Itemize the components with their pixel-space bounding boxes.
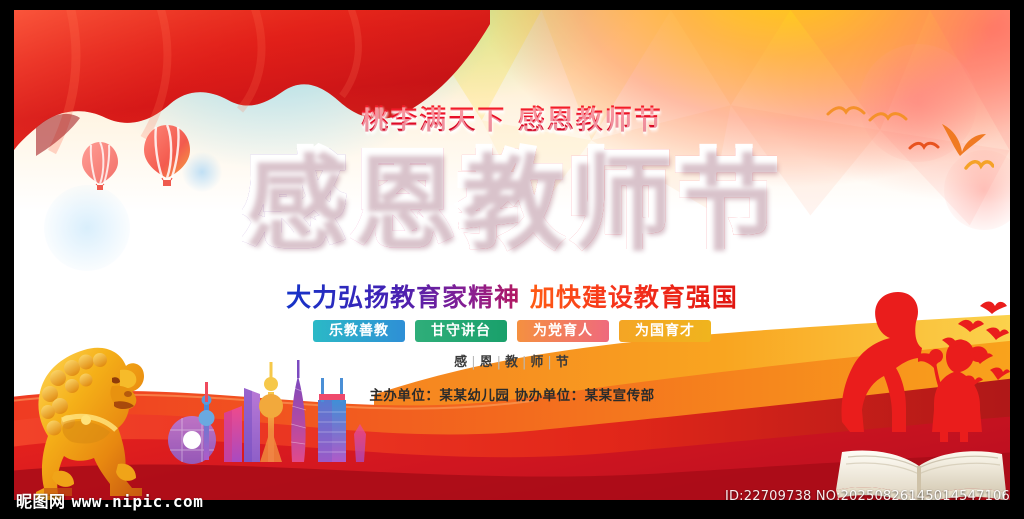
slogan-char: 恩 xyxy=(480,355,494,370)
slogan-char: 感 xyxy=(454,355,468,370)
slogan-tag-row: 乐教善教 甘守讲台 为党育人 为国育才 xyxy=(14,320,1010,342)
slogan-separator: | xyxy=(494,355,505,370)
poster-artwork: 桃李满天下 感恩教师节 感恩教师节 大力弘扬教育家精神 加快建设教育强国 乐教善… xyxy=(14,10,1010,500)
poster-canvas: 桃李满天下 感恩教师节 感恩教师节 大力弘扬教育家精神 加快建设教育强国 乐教善… xyxy=(0,0,1024,519)
page-title: 感恩教师节 xyxy=(14,148,1010,252)
slogan-char: 节 xyxy=(556,355,570,370)
slogan-tag[interactable]: 甘守讲台 xyxy=(415,320,507,342)
slogan-separator: | xyxy=(544,355,555,370)
city-skyline-icon xyxy=(164,358,374,468)
slogan-tag[interactable]: 为党育人 xyxy=(517,320,609,342)
title-char: 师 xyxy=(566,148,674,252)
watermark-logo: 昵图网 www.nipic.com xyxy=(16,488,203,512)
watermark-domain-text: www.nipic.com xyxy=(72,492,204,511)
slogan-char: 师 xyxy=(530,355,544,370)
subtitle: 大力弘扬教育家精神 加快建设教育强国 xyxy=(14,278,1010,314)
title-char: 感 xyxy=(242,148,350,252)
slogan-separator: | xyxy=(468,355,479,370)
title-char: 教 xyxy=(458,148,566,252)
slogan-spaced: 感|恩|教|师|节 xyxy=(14,351,1010,370)
watermark-id-text: ID:22709738 NO:20250826145014547106 xyxy=(725,489,1010,504)
subtitle-part-1: 大力弘扬教育家精神 xyxy=(286,283,520,312)
slogan-tag[interactable]: 为国育才 xyxy=(619,320,711,342)
subtitle-part-2: 加快建设教育强国 xyxy=(530,283,738,312)
title-char: 节 xyxy=(674,148,782,252)
slogan-char: 教 xyxy=(505,355,519,370)
watermark-cn-text: 昵图网 xyxy=(16,492,66,511)
slogan-tag[interactable]: 乐教善教 xyxy=(313,320,405,342)
tagline: 桃李满天下 感恩教师节 xyxy=(14,98,1010,137)
slogan-separator: | xyxy=(519,355,530,370)
organizers-line: 主办单位：某某幼儿园 协办单位：某某宣传部 xyxy=(14,384,1010,404)
title-char: 恩 xyxy=(350,148,458,252)
